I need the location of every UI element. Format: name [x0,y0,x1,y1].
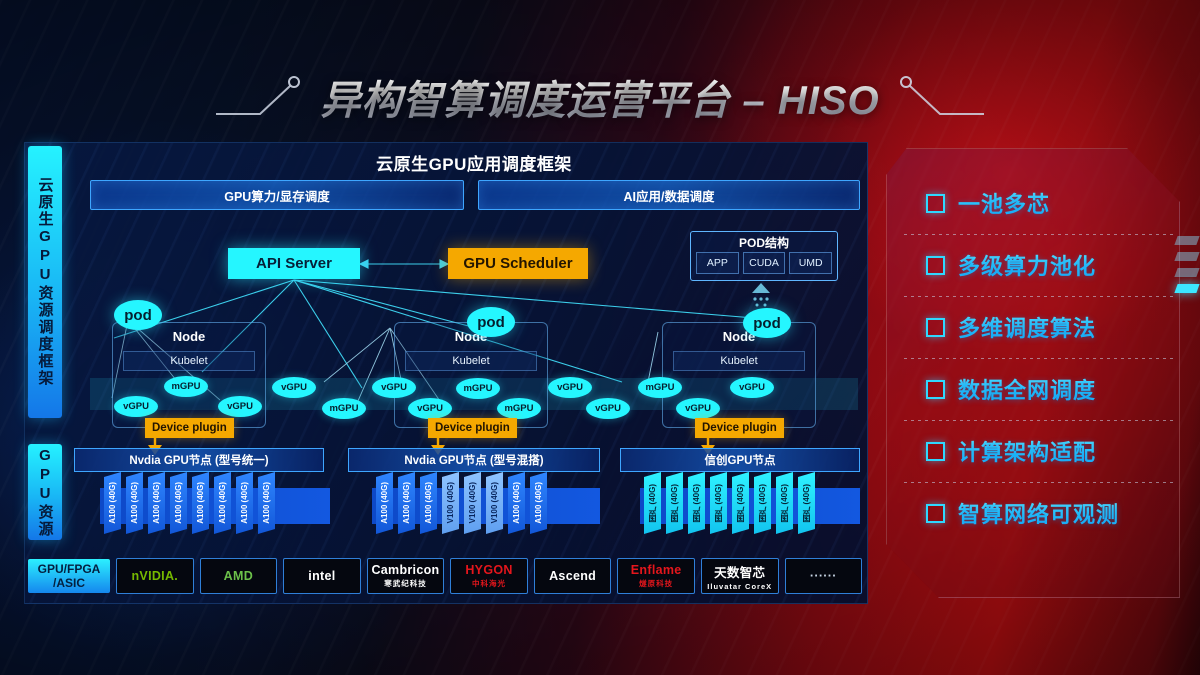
kubelet-bar: Kubelet [673,351,805,371]
pod-structure-box: POD结构 APP CUDA UMD [690,231,838,281]
feature-label: 计算架构适配 [958,435,1096,467]
gpu-card-label: 国产 (40G) [713,484,724,523]
gpu-card[interactable]: A100 (40G) [214,472,231,534]
gpu-card[interactable]: 国产 (40G) [688,472,705,534]
vendor-bar: GPU/FPGA /ASIC nVIDIA.AMDintelCambricon寒… [24,556,866,596]
gpu-card[interactable]: A100 (40G) [376,472,393,534]
gpu-group-header: 信创GPU节点 [620,448,860,472]
checkbox-icon [926,318,945,337]
feature-label: 多维调度算法 [958,311,1096,343]
gpu-card-label: A100 (40G) [380,482,389,524]
gpu-card[interactable]: A100 (40G) [258,472,275,534]
sidebar-tab-gpu-resource[interactable]: GPU资源 [28,444,62,540]
gpu-card-label: V100 (40G) [468,482,477,523]
vgpu-chip[interactable]: vGPU [218,396,262,417]
feature-item[interactable]: 计算架构适配 [900,420,1168,482]
gpu-card-label: A100 (40G) [424,482,433,524]
gpu-group-header: Nvdia GPU节点 (型号混搭) [348,448,600,472]
gpu-card-row: A100 (40G)A100 (40G)A100 (40G)A100 (40G)… [104,472,275,534]
pill-ai-data-scheduling[interactable]: AI应用/数据调度 [478,180,860,210]
enflame-logo[interactable]: Enflame燧原科技 [617,558,695,594]
gpu-card-label: 国产 (40G) [691,484,702,523]
api-server-box[interactable]: API Server [228,248,360,279]
gpu-card[interactable]: V100 (40G) [486,472,503,534]
gpu-card-label: 国产 (40G) [757,484,768,523]
more-logo[interactable]: ······ [785,558,863,594]
gpu-card[interactable]: 国产 (40G) [754,472,771,534]
vendor-label-line2: /ASIC [53,577,85,590]
panel-notch-decoration [1176,236,1198,300]
gpu-scheduler-box[interactable]: GPU Scheduler [448,248,588,279]
feature-label: 数据全网调度 [958,373,1096,405]
intel-logo[interactable]: intel [283,558,361,594]
vendor-subtitle: 中科海光 [472,578,506,589]
title-left-decoration [216,74,302,120]
gpu-card-label: A100 (40G) [218,482,227,524]
device-plugin-badge[interactable]: Device plugin [695,418,784,438]
checkbox-icon [926,194,945,213]
gpu-card[interactable]: A100 (40G) [170,472,187,534]
sidebar-tab-framework[interactable]: 云原生GPU资源调度框架 [28,146,62,418]
gpu-card[interactable]: 国产 (40G) [666,472,683,534]
gpu-card-row: A100 (40G)A100 (40G)A100 (40G)V100 (40G)… [376,472,547,534]
framework-title: 云原生GPU应用调度框架 [90,150,858,175]
device-plugin-badge[interactable]: Device plugin [145,418,234,438]
title-right-decoration [898,74,984,120]
gpu-card-label: 国产 (40G) [647,484,658,523]
gpu-card[interactable]: 国产 (40G) [776,472,793,534]
gpu-card[interactable]: 国产 (40G) [732,472,749,534]
gpu-card-label: A100 (40G) [402,482,411,524]
mgpu-chip[interactable]: mGPU [322,398,366,419]
checkbox-icon [926,504,945,523]
amd-logo[interactable]: AMD [200,558,278,594]
feature-item[interactable]: 多级算力池化 [900,234,1168,296]
node-title: Node [663,329,815,344]
pill-gpu-compute-scheduling[interactable]: GPU算力/显存调度 [90,180,464,210]
pod-cell-cuda: CUDA [743,252,786,274]
feature-item[interactable]: 数据全网调度 [900,358,1168,420]
feature-label: 智算网络可观测 [958,497,1119,529]
node-title: Node [113,329,265,344]
feature-list: 一池多芯 多级算力池化 多维调度算法 数据全网调度 计算架构适配 智算网络可观测 [900,172,1168,544]
checkbox-icon [926,442,945,461]
gpu-card-label: A100 (40G) [534,482,543,524]
nvidia-logo[interactable]: nVIDIA. [116,558,194,594]
vendor-label-line1: GPU/FPGA [38,563,101,576]
device-plugin-badge[interactable]: Device plugin [428,418,517,438]
vendor-subtitle: 寒武纪科技 [384,578,427,589]
vendor-logo-list: nVIDIA.AMDintelCambricon寒武纪科技HYGON中科海光As… [116,558,862,594]
gpu-card-label: A100 (40G) [196,482,205,524]
gpu-group-header: Nvdia GPU节点 (型号统一) [74,448,324,472]
feature-item[interactable]: 多维调度算法 [900,296,1168,358]
vgpu-chip[interactable]: vGPU [730,377,774,398]
ascend-logo[interactable]: Ascend [534,558,612,594]
kubelet-bar: Kubelet [405,351,537,371]
iluvatar-logo[interactable]: 天数智芯Iluvatar CoreX [701,558,779,594]
vendor-name: AMD [224,569,253,583]
gpu-card[interactable]: V100 (40G) [464,472,481,534]
gpu-card-label: 国产 (40G) [735,484,746,523]
vgpu-chip[interactable]: vGPU [676,398,720,419]
gpu-card[interactable]: A100 (40G) [508,472,525,534]
vendor-name: ······ [810,569,837,583]
vendor-subtitle: 燧原科技 [639,578,673,589]
gpu-card-label: A100 (40G) [174,482,183,524]
gpu-card[interactable]: A100 (40G) [420,472,437,534]
gpu-card-label: 国产 (40G) [779,484,790,523]
gpu-card[interactable]: A100 (40G) [104,472,121,534]
gpu-card-label: 国产 (40G) [801,484,812,523]
checkbox-icon [926,380,945,399]
feature-item[interactable]: 智算网络可观测 [900,482,1168,544]
gpu-card[interactable]: 国产 (40G) [710,472,727,534]
gpu-card-label: A100 (40G) [240,482,249,524]
gpu-card-label: A100 (40G) [108,482,117,524]
node-title: Node [395,329,547,344]
gpu-card[interactable]: A100 (40G) [126,472,143,534]
gpu-card-label: 国产 (40G) [669,484,680,523]
gpu-card-label: A100 (40G) [512,482,521,524]
mgpu-chip[interactable]: mGPU [497,398,541,419]
vgpu-chip[interactable]: vGPU [408,398,452,419]
page-title: 异构智算调度运营平台 – HISO [320,68,879,126]
gpu-card-label: V100 (40G) [490,482,499,523]
pod-cell-umd: UMD [789,252,832,274]
vendor-name: Cambricon [371,563,439,577]
vgpu-chip[interactable]: vGPU [586,398,630,419]
slide-canvas: 异构智算调度运营平台 – HISO [0,0,1200,675]
checkbox-icon [926,256,945,275]
gpu-card-label: V100 (40G) [446,482,455,523]
gpu-card[interactable]: 国产 (40G) [798,472,815,534]
gpu-card[interactable]: 国产 (40G) [644,472,661,534]
gpu-card-row: 国产 (40G)国产 (40G)国产 (40G)国产 (40G)国产 (40G)… [644,472,815,534]
framework-header: 云原生GPU应用调度框架 GPU算力/显存调度 AI应用/数据调度 [90,148,858,216]
title-bar: 异构智算调度运营平台 – HISO [0,62,1200,132]
gpu-card-label: A100 (40G) [152,482,161,524]
vgpu-chip[interactable]: vGPU [372,377,416,398]
cambricon-logo[interactable]: Cambricon寒武纪科技 [367,558,445,594]
gpu-card[interactable]: A100 (40G) [236,472,253,534]
feature-label: 多级算力池化 [958,249,1096,281]
pod-cell-app: APP [696,252,739,274]
hygon-logo[interactable]: HYGON中科海光 [450,558,528,594]
vendor-name: Enflame [631,563,682,577]
pod-ellipse[interactable]: pod [114,300,162,330]
vendor-name: nVIDIA. [132,569,179,583]
feature-label: 一池多芯 [958,187,1050,219]
vendor-subtitle: Iluvatar CoreX [707,582,772,591]
vendor-name: intel [308,569,335,583]
kubelet-bar: Kubelet [123,351,255,371]
gpu-card[interactable]: V100 (40G) [442,472,459,534]
gpu-card[interactable]: A100 (40G) [530,472,547,534]
mgpu-chip[interactable]: mGPU [638,377,682,398]
pod-ellipse[interactable]: pod [467,307,515,337]
vendor-name: Ascend [549,569,596,583]
pod-structure-title: POD结构 [691,234,837,251]
vendor-name: HYGON [465,563,512,577]
pod-ellipse[interactable]: pod [743,308,791,338]
vgpu-chip[interactable]: vGPU [272,377,316,398]
vgpu-chip[interactable]: vGPU [114,396,158,417]
gpu-card-label: A100 (40G) [130,482,139,524]
vendor-name: 天数智芯 [714,562,765,581]
mgpu-chip[interactable]: mGPU [456,378,500,399]
vgpu-chip[interactable]: vGPU [548,377,592,398]
gpu-card[interactable]: A100 (40G) [398,472,415,534]
gpu-card-label: A100 (40G) [262,482,271,524]
vendor-category-label: GPU/FPGA /ASIC [28,559,110,593]
feature-item[interactable]: 一池多芯 [900,172,1168,234]
gpu-card[interactable]: A100 (40G) [192,472,209,534]
mgpu-chip[interactable]: mGPU [164,376,208,397]
gpu-card[interactable]: A100 (40G) [148,472,165,534]
